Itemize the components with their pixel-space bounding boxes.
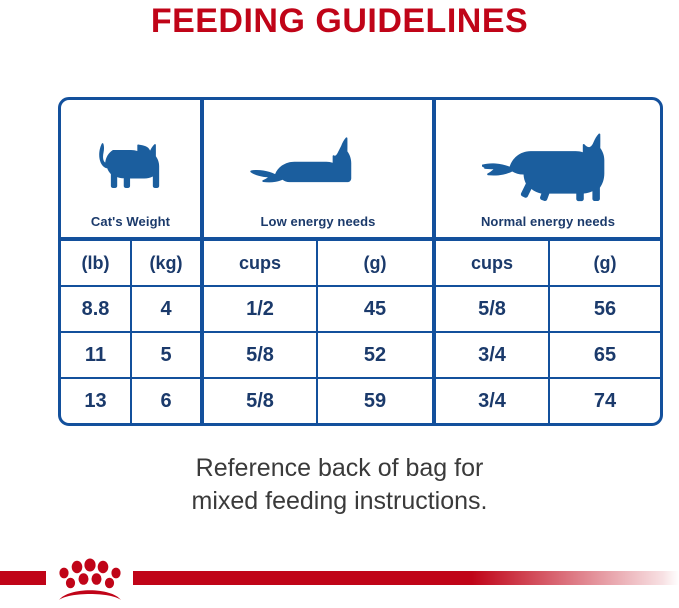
- data-cell: 6: [130, 379, 200, 423]
- header-caption: Low energy needs: [260, 214, 375, 229]
- data-cell: 5: [130, 333, 200, 377]
- footnote-line-2: mixed feeding instructions.: [0, 485, 679, 518]
- header-cell-low-energy: Low energy needs: [200, 100, 432, 237]
- table-row: 13 6 5/8 59 3/4 74: [61, 377, 660, 423]
- data-cell: 74: [548, 379, 660, 423]
- feeding-guidelines-table: Cat's Weight Low energy needs Normal ene…: [58, 97, 663, 426]
- data-cell: 5/8: [200, 379, 316, 423]
- footnote-line-1: Reference back of bag for: [0, 452, 679, 485]
- header-cell-normal-energy: Normal energy needs: [432, 100, 660, 237]
- header-caption: Normal energy needs: [481, 214, 615, 229]
- data-cell: 1/2: [200, 287, 316, 331]
- data-cell: 8.8: [61, 287, 130, 331]
- brand-bar-right-segment: [133, 571, 679, 585]
- footnote: Reference back of bag for mixed feeding …: [0, 452, 679, 518]
- units-cell: (g): [316, 241, 432, 285]
- data-cell: 52: [316, 333, 432, 377]
- data-cell: 13: [61, 379, 130, 423]
- royal-canin-crown-logo: [52, 556, 128, 602]
- units-cell: cups: [200, 241, 316, 285]
- page-title: FEEDING GUIDELINES: [0, 2, 679, 41]
- units-cell: (kg): [130, 241, 200, 285]
- standing-cat-icon: [92, 130, 170, 208]
- walking-cat-icon: [482, 130, 614, 208]
- data-cell: 5/8: [432, 287, 548, 331]
- table-body: (lb) (kg) cups (g) cups (g) 8.8 4 1/2 45…: [61, 241, 660, 423]
- brand-bar-left-segment: [0, 571, 46, 585]
- table-units-row: (lb) (kg) cups (g) cups (g): [61, 241, 660, 285]
- data-cell: 65: [548, 333, 660, 377]
- units-cell: (g): [548, 241, 660, 285]
- data-cell: 56: [548, 287, 660, 331]
- units-cell: cups: [432, 241, 548, 285]
- lying-cat-icon: [250, 134, 386, 208]
- data-cell: 11: [61, 333, 130, 377]
- header-caption: Cat's Weight: [91, 214, 170, 229]
- table-row: 8.8 4 1/2 45 5/8 56: [61, 285, 660, 331]
- data-cell: 4: [130, 287, 200, 331]
- data-cell: 59: [316, 379, 432, 423]
- table-row: 11 5 5/8 52 3/4 65: [61, 331, 660, 377]
- units-cell: (lb): [61, 241, 130, 285]
- data-cell: 3/4: [432, 379, 548, 423]
- data-cell: 5/8: [200, 333, 316, 377]
- data-cell: 3/4: [432, 333, 548, 377]
- data-cell: 45: [316, 287, 432, 331]
- table-icon-header-row: Cat's Weight Low energy needs Normal ene…: [61, 100, 660, 241]
- header-cell-cats-weight: Cat's Weight: [61, 100, 200, 237]
